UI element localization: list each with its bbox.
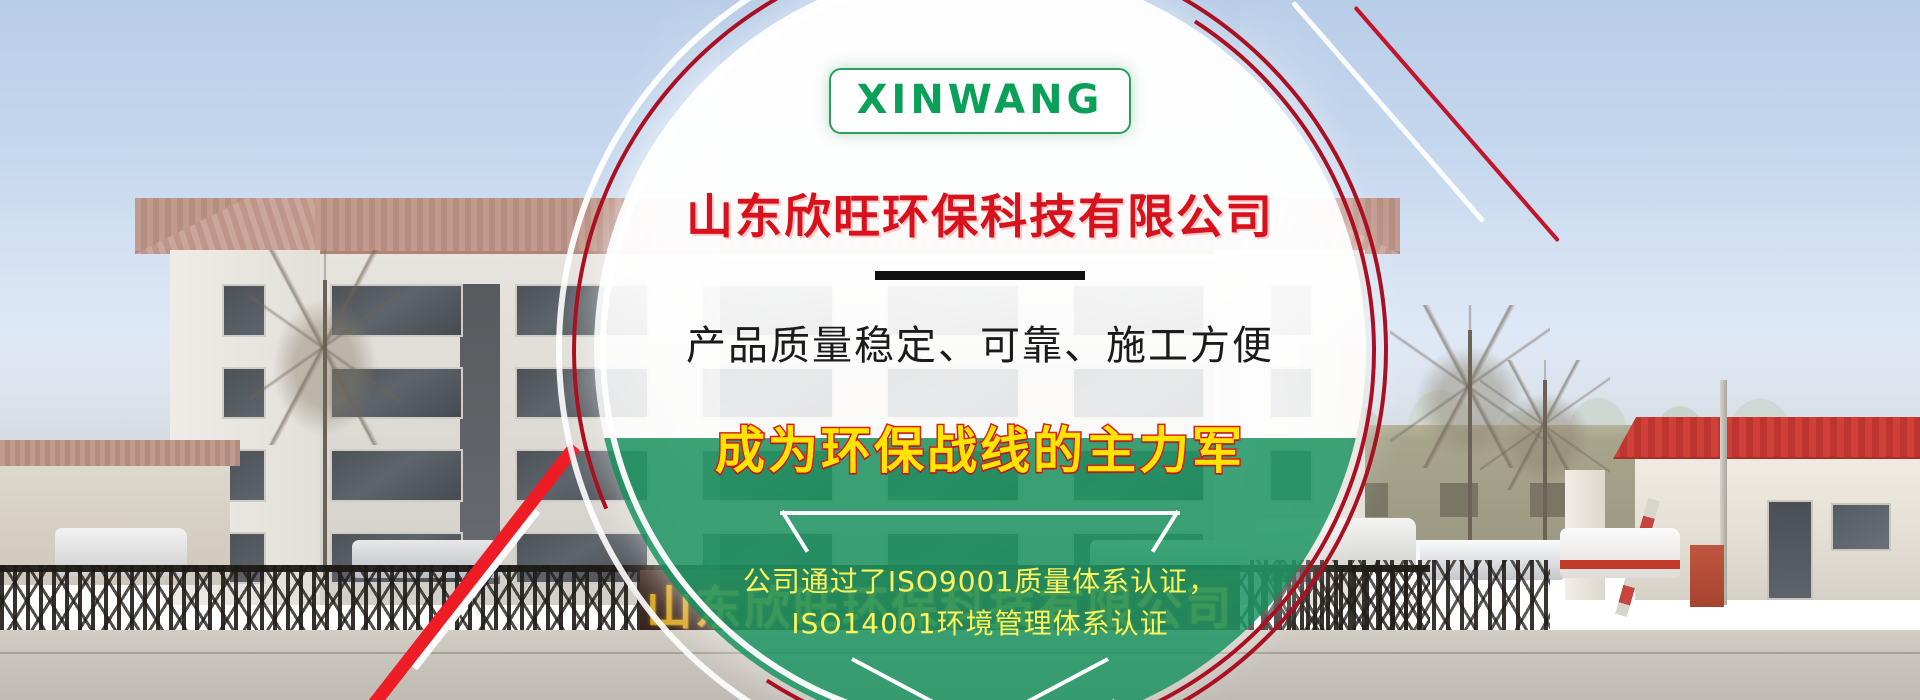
guard-house-door xyxy=(1767,500,1813,600)
parked-utility-vehicle xyxy=(1560,528,1680,578)
banner-content: XINWANG 山东欣旺环保科技有限公司 产品质量稳定、可靠、施工方便 成为环保… xyxy=(594,0,1366,700)
brand-logo-text: XINWANG xyxy=(857,77,1104,123)
bare-tree xyxy=(250,280,400,580)
upper-bracket-ornament xyxy=(780,511,1180,549)
guard-house-roof xyxy=(1613,417,1920,459)
certification-line-1: 公司通过了ISO9001质量体系认证， xyxy=(743,561,1217,603)
certification-text: 公司通过了ISO9001质量体系认证， ISO14001环境管理体系认证 xyxy=(743,561,1217,645)
roadside-bin xyxy=(1690,545,1724,607)
brand-logo-badge: XINWANG xyxy=(829,68,1132,134)
company-name: 山东欣旺环保科技有限公司 xyxy=(686,178,1274,247)
title-divider xyxy=(875,271,1085,280)
lower-chevron-ornament xyxy=(850,659,1110,700)
main-slogan: 成为环保战线的主力军 xyxy=(715,411,1245,483)
certification-line-2: ISO14001环境管理体系认证 xyxy=(743,603,1217,645)
guard-house xyxy=(1635,455,1920,600)
guard-house-window xyxy=(1831,503,1891,551)
hero-banner: 山东欣旺环保科技有限公司 XINWANG 山东欣旺环保科技有限公司 产品质量稳定… xyxy=(0,0,1920,700)
product-tagline: 产品质量稳定、可靠、施工方便 xyxy=(686,313,1274,371)
